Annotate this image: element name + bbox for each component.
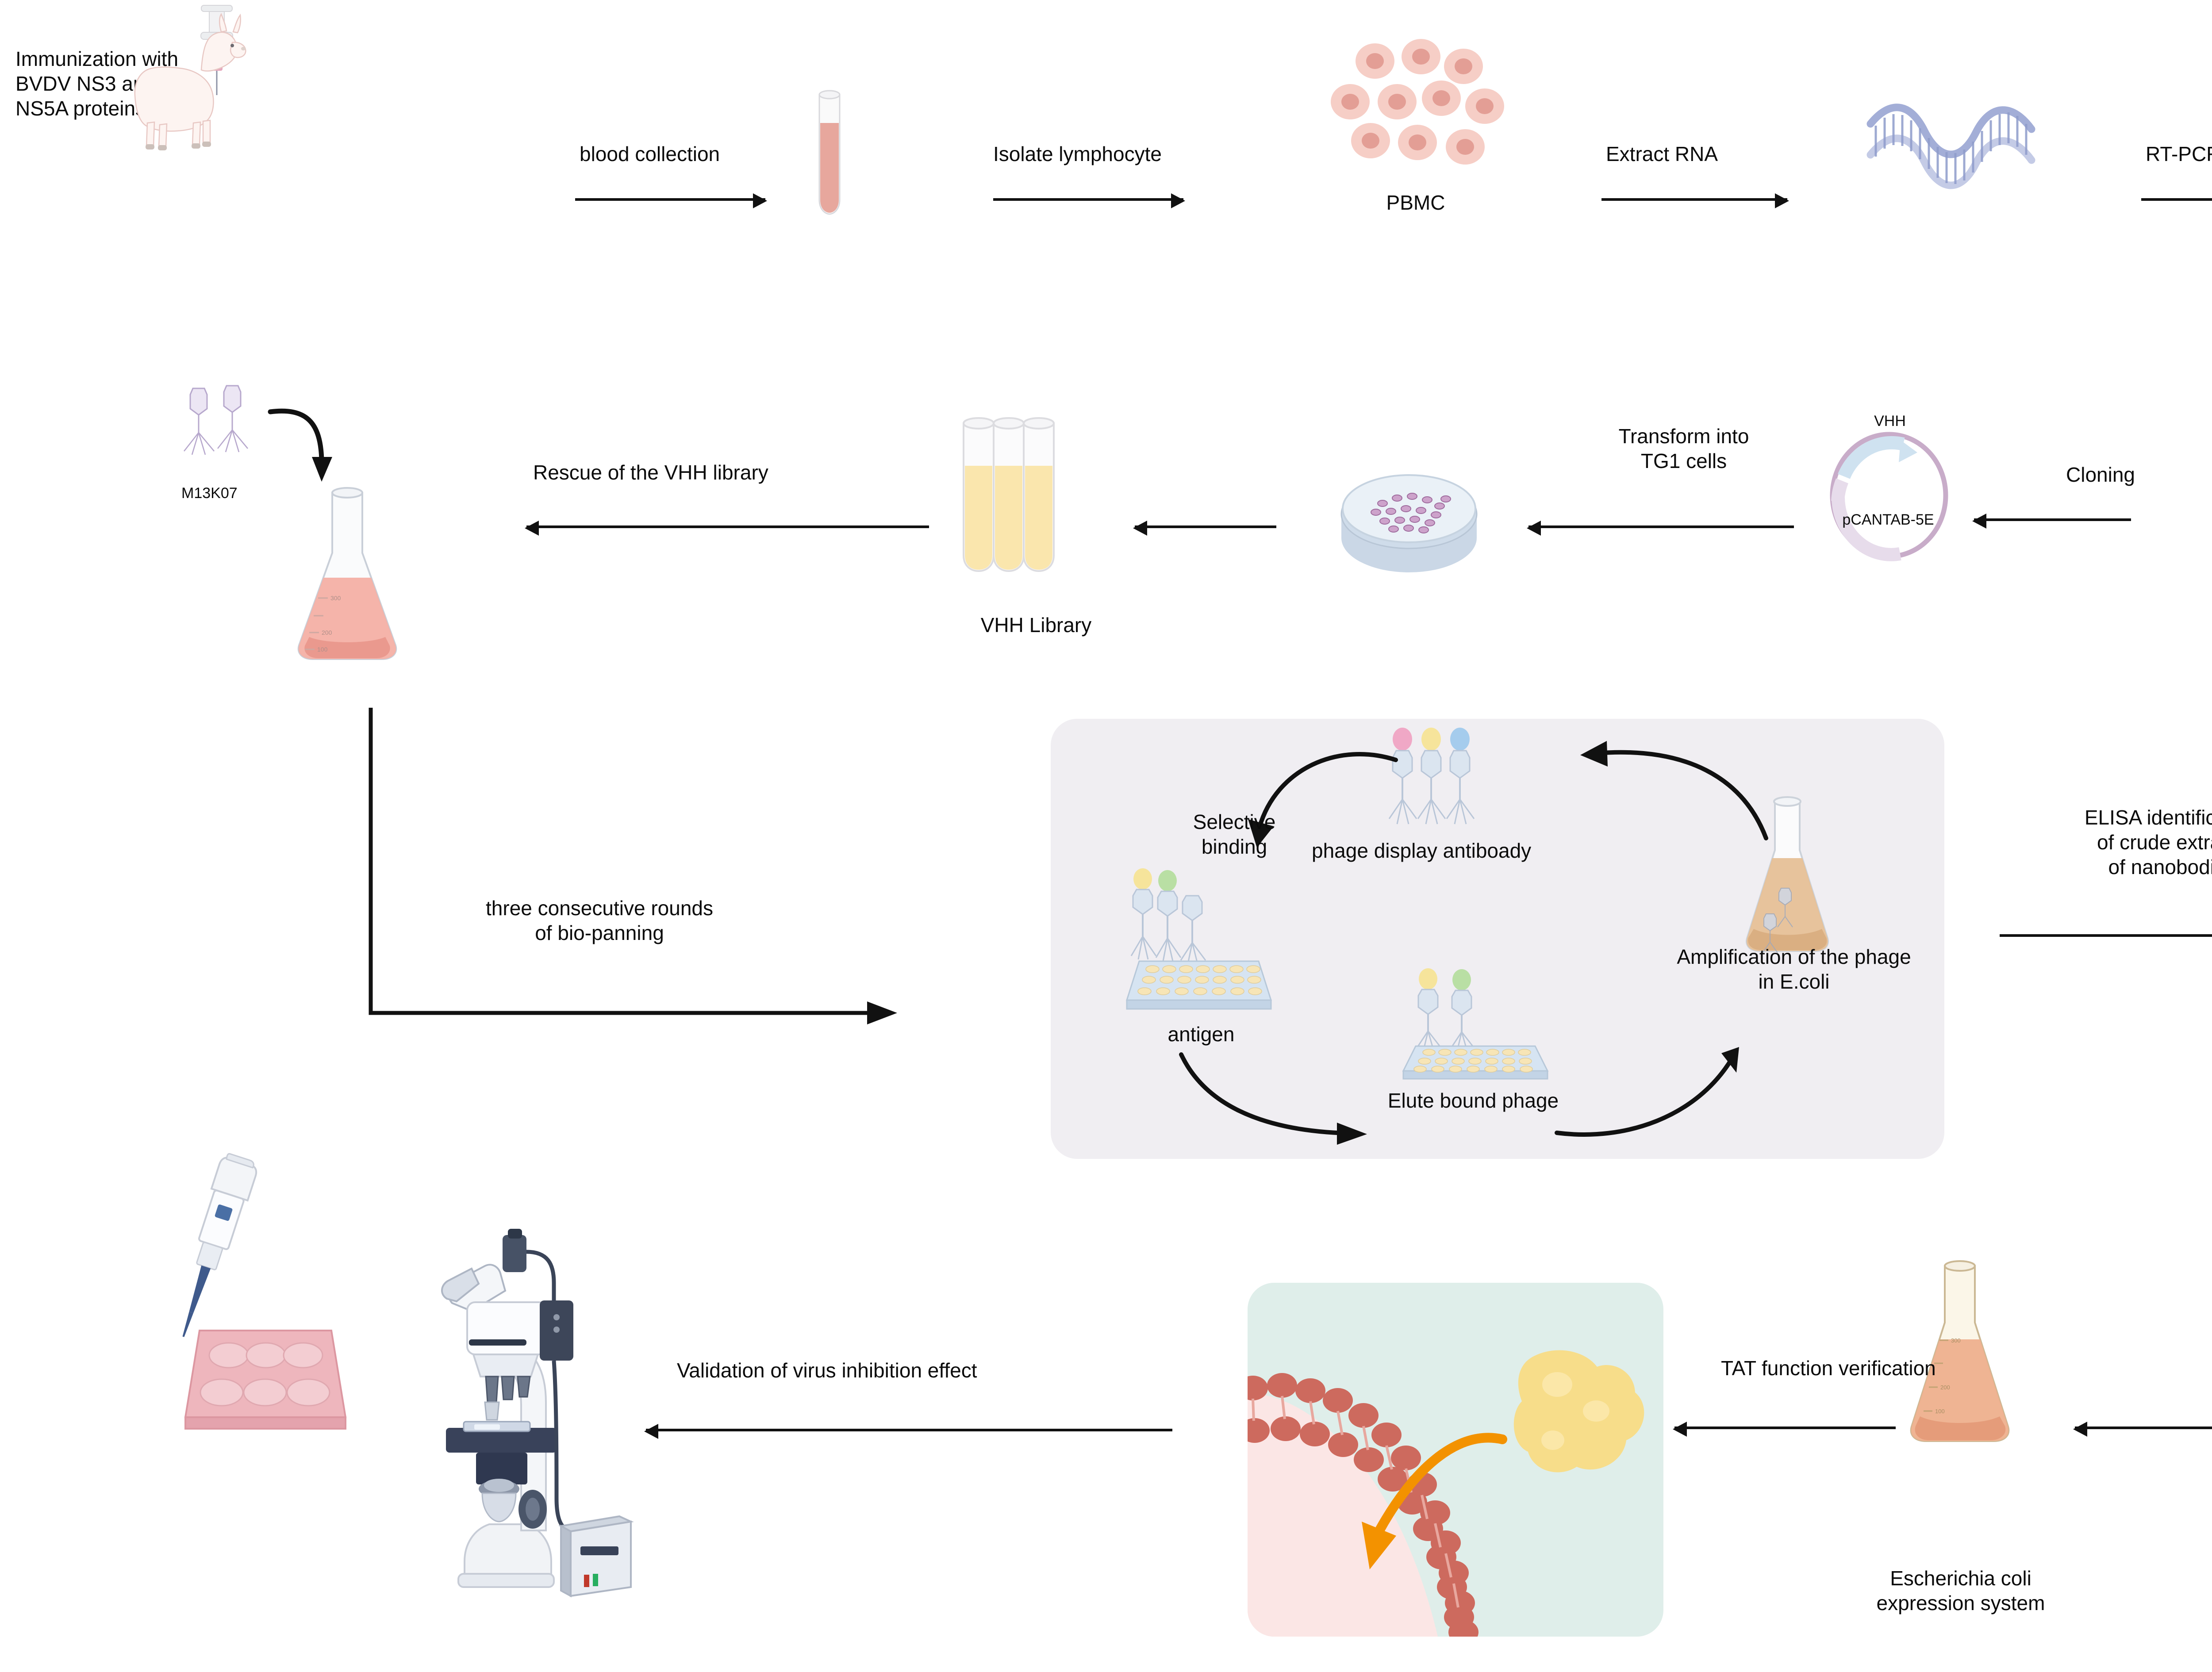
blood-collection-label: blood collection [580, 142, 720, 166]
svg-text:200: 200 [322, 629, 332, 636]
arrow-rt-pcr [2141, 198, 2212, 201]
vhh-library-tubes [956, 414, 1093, 577]
microscope-illustration [380, 1212, 646, 1619]
petri-dish-illustration [1332, 447, 1486, 575]
ecoli-system-label: Escherichia coli expression system [1877, 1566, 2045, 1615]
rt-pcr-label: RT-PCR [2146, 142, 2212, 166]
pcantab5e-plasmid [1823, 431, 1955, 560]
isolate-lymphocyte-label: Isolate lymphocyte [993, 142, 1162, 166]
arrow-transform-tg1 [1528, 525, 1794, 528]
antigen-plate-illustration [1121, 869, 1276, 1015]
arrow-extract-rna [1601, 198, 1787, 201]
svg-text:300: 300 [1951, 1337, 1961, 1344]
svg-text:300: 300 [330, 594, 341, 602]
arrow-blood-collection [575, 198, 765, 201]
biopanning-label: three consecutive rounds of bio-panning [486, 896, 713, 945]
amplification-label: Amplification of the phage in E.coli [1677, 944, 1911, 994]
selective-binding-label: Selective binding [1193, 809, 1276, 859]
curved-arrow-to-flask [268, 405, 347, 493]
validation-label: Validation of virus inhibition effect [677, 1358, 977, 1383]
phage-display-trio [1385, 732, 1517, 847]
arrow-isolate-lymphocyte [993, 198, 1183, 201]
six-well-plate-illustration [179, 1323, 352, 1442]
elute-label: Elute bound phage [1388, 1088, 1559, 1113]
workflow-diagram: Immunization with BVDV NS3 and NS5A prot… [0, 0, 2212, 1672]
arrow-to-elute [1177, 1048, 1376, 1150]
pbmc-illustration [1323, 40, 1509, 186]
m13k07-phage-illustration [177, 385, 274, 473]
ecoli-flask-illustration: 300 200 100 [1902, 1261, 2017, 1446]
arrow-tat-verification [1674, 1427, 1896, 1429]
arrow-validation [646, 1429, 1172, 1431]
rescue-label: Rescue of the VHH library [533, 460, 768, 485]
alpaca-illustration [69, 4, 281, 150]
arrow-cloning-row2 [1974, 518, 2131, 521]
vhh-library-label: VHH Library [981, 613, 1092, 637]
antigen-label: antigen [1168, 1022, 1235, 1047]
pbmc-label: PBMC [1386, 190, 1445, 215]
arrow-prokaryotic-expression [2075, 1427, 2212, 1429]
plasmid-vhh-label: VHH [1874, 412, 1906, 430]
arrow-to-amplification [1551, 1046, 1759, 1148]
svg-text:100: 100 [1935, 1408, 1945, 1415]
elisa-label: ELISA identification of crude extracts o… [2085, 805, 2212, 879]
biopanning-bracket [366, 708, 902, 1031]
transform-tg1-label: Transform into TG1 cells [1619, 424, 1749, 473]
cloning-label-row2: Cloning [2066, 462, 2135, 487]
svg-text:100: 100 [317, 646, 328, 653]
tat-verification-label: TAT function verification [1721, 1356, 1936, 1381]
pcantab5e-label: pCANTAB-5E [1842, 511, 1934, 529]
elute-plate-illustration [1398, 971, 1553, 1081]
m13k07-label: M13K07 [181, 484, 238, 502]
rescue-flask-illustration: 300 200 100 [290, 487, 405, 663]
arrow-rescue [526, 525, 929, 528]
arrow-dish-to-library [1135, 525, 1276, 528]
blood-tube-illustration [814, 88, 845, 217]
svg-text:200: 200 [1940, 1384, 1950, 1391]
membrane-penetration-illustration [1248, 1283, 1663, 1637]
arrow-elisa [2000, 934, 2212, 937]
arrow-amplification-to-display [1553, 736, 1770, 847]
rna-illustration [1867, 106, 2053, 217]
extract-rna-label: Extract RNA [1606, 142, 1718, 166]
